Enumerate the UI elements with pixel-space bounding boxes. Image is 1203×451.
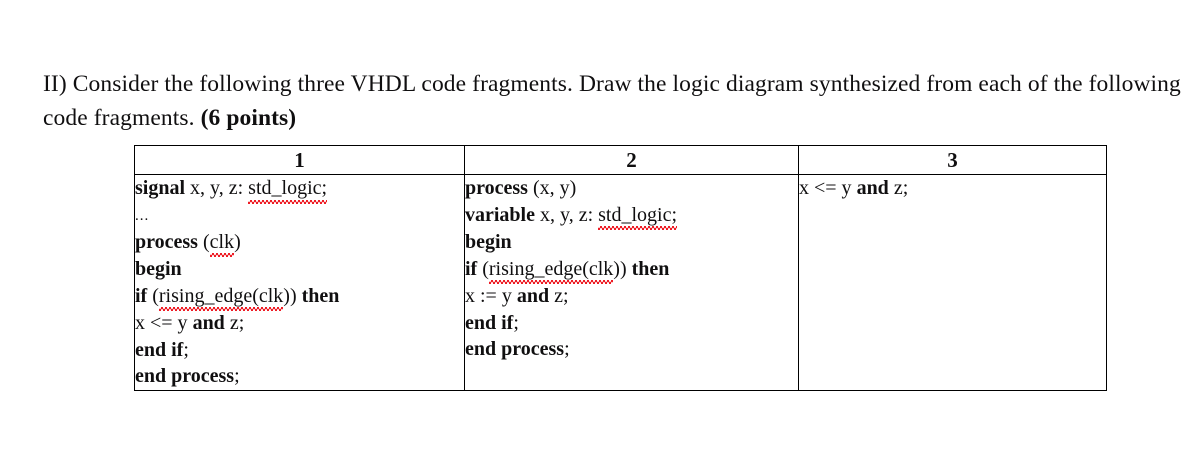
- code-line: ...: [135, 203, 464, 229]
- column-header-2: 2: [465, 146, 799, 175]
- code-token: process: [465, 177, 533, 199]
- code-cell-2: process (x, y)variable x, y, z: std_logi…: [465, 175, 799, 391]
- code-token: end if: [465, 312, 513, 334]
- code-token: begin: [465, 231, 512, 253]
- code-line: end process;: [465, 336, 798, 363]
- code-token: ;: [564, 338, 570, 360]
- misspelled-token: rising_edge(clk: [159, 283, 283, 311]
- code-token: then: [302, 285, 340, 307]
- code-line: end process;: [135, 363, 464, 390]
- column-header-3: 3: [799, 146, 1107, 175]
- code-line: if (rising_edge(clk)) then: [465, 256, 798, 284]
- code-token: if: [135, 285, 152, 307]
- code-token: ...: [135, 208, 149, 224]
- misspelled-token: clk: [210, 229, 234, 257]
- code-token: and: [193, 312, 225, 334]
- code-token: (: [203, 231, 210, 253]
- code-token: x, y, z:: [190, 177, 248, 199]
- document-page: II) Consider the following three VHDL co…: [0, 0, 1203, 451]
- code-cell-3: x <= y and z;: [799, 175, 1107, 391]
- table-row: signal x, y, z: std_logic;...process (cl…: [135, 175, 1107, 391]
- code-line: end if;: [135, 337, 464, 364]
- code-line: x <= y and z;: [135, 310, 464, 337]
- code-token: (: [482, 258, 489, 280]
- code-token: and: [857, 177, 889, 199]
- code-token: end if: [135, 339, 183, 361]
- code-token: variable: [465, 204, 540, 226]
- code-token: z;: [889, 177, 908, 199]
- code-token: x, y, z:: [540, 204, 598, 226]
- code-token: if: [465, 258, 482, 280]
- code-line: process (x, y): [465, 175, 798, 202]
- code-line: process (clk): [135, 229, 464, 257]
- code-token: ): [234, 231, 241, 253]
- code-line: begin: [465, 229, 798, 256]
- code-token: x := y: [465, 285, 517, 307]
- code-token: then: [632, 258, 670, 280]
- code-line: x <= y and z;: [799, 175, 1106, 202]
- question-points: (6 points): [201, 105, 297, 131]
- code-token: ;: [183, 339, 189, 361]
- table-header-row: 1 2 3: [135, 146, 1107, 175]
- code-cell-1: signal x, y, z: std_logic;...process (cl…: [135, 175, 465, 391]
- code-token: z;: [225, 312, 244, 334]
- code-token: )): [283, 285, 301, 307]
- code-token: (x, y): [533, 177, 576, 199]
- column-header-1: 1: [135, 146, 465, 175]
- code-token: process: [135, 231, 203, 253]
- misspelled-token: rising_edge(clk: [489, 256, 613, 284]
- code-line: signal x, y, z: std_logic;: [135, 175, 464, 203]
- code-token: begin: [135, 258, 182, 280]
- code-token: end process: [465, 338, 564, 360]
- code-line: end if;: [465, 310, 798, 337]
- code-token: x <= y: [799, 177, 857, 199]
- code-line: variable x, y, z: std_logic;: [465, 202, 798, 230]
- code-line: begin: [135, 256, 464, 283]
- code-token: )): [613, 258, 631, 280]
- misspelled-token: std_logic;: [248, 175, 327, 203]
- code-token: x <= y: [135, 312, 193, 334]
- code-token: ;: [234, 365, 240, 387]
- vhdl-code-fragments-table: 1 2 3 signal x, y, z: std_logic;...proce…: [134, 145, 1107, 391]
- question-heading: II) Consider the following three VHDL co…: [43, 67, 1183, 135]
- code-token: ;: [513, 312, 519, 334]
- code-token: (: [152, 285, 159, 307]
- code-token: and: [517, 285, 549, 307]
- code-token: signal: [135, 177, 190, 199]
- code-token: z;: [549, 285, 568, 307]
- code-line: if (rising_edge(clk)) then: [135, 283, 464, 311]
- code-token: end process: [135, 365, 234, 387]
- code-line: x := y and z;: [465, 283, 798, 310]
- misspelled-token: std_logic;: [598, 202, 677, 230]
